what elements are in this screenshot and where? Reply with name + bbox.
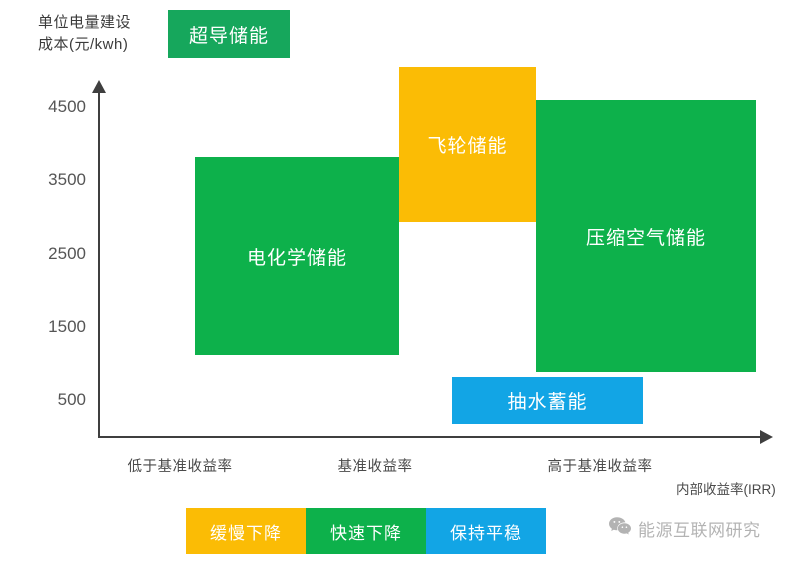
chart-box-2: 飞轮储能: [399, 67, 536, 222]
y-axis-line: [98, 90, 100, 438]
legend-item-label: 缓慢下降: [210, 519, 282, 544]
x-axis-title: 内部收益率(IRR): [676, 478, 776, 498]
legend-item-label: 快速下降: [330, 519, 402, 544]
chart-box-label: 电化学储能: [247, 243, 347, 270]
y-axis-arrowhead-icon: [92, 80, 106, 93]
chart-box-label: 飞轮储能: [427, 131, 507, 158]
y-axis-tick-label: 2500: [16, 244, 86, 264]
watermark-label: 能源互联网研究: [638, 516, 761, 541]
watermark: 能源互联网研究: [608, 516, 761, 541]
chart-box-3: 压缩空气储能: [536, 100, 756, 372]
x-axis-tick-label: 低于基准收益率: [128, 455, 233, 476]
legend-item-2[interactable]: 快速下降: [306, 508, 426, 554]
y-axis-tick-label: 500: [16, 390, 86, 410]
y-axis-tick-label: 3500: [16, 170, 86, 190]
x-axis-arrowhead-icon: [760, 430, 773, 444]
chart-box-4: 抽水蓄能: [452, 377, 643, 424]
chart-box-label: 抽水蓄能: [507, 387, 587, 414]
legend-item-label: 保持平稳: [450, 519, 522, 544]
wechat-icon: [608, 516, 632, 541]
chart-canvas: 单位电量建设 成本(元/kwh) 超导储能 450035002500150050…: [0, 0, 800, 562]
annotation-badge-label: 超导储能: [189, 21, 269, 48]
chart-legend: 缓慢下降快速下降保持平稳: [186, 508, 546, 554]
x-axis-line: [98, 436, 762, 438]
legend-item-1[interactable]: 缓慢下降: [186, 508, 306, 554]
y-axis-tick-label: 1500: [16, 317, 86, 337]
chart-box-label: 压缩空气储能: [586, 223, 706, 250]
x-axis-tick-label: 基准收益率: [338, 455, 413, 476]
legend-item-3[interactable]: 保持平稳: [426, 508, 546, 554]
y-axis-tick-label: 4500: [16, 97, 86, 117]
annotation-badge-superconducting: 超导储能: [168, 10, 290, 58]
y-axis-tick-labels: 4500350025001500500: [8, 0, 86, 562]
x-axis-tick-label: 高于基准收益率: [548, 455, 653, 476]
chart-box-1: 电化学储能: [195, 157, 399, 355]
